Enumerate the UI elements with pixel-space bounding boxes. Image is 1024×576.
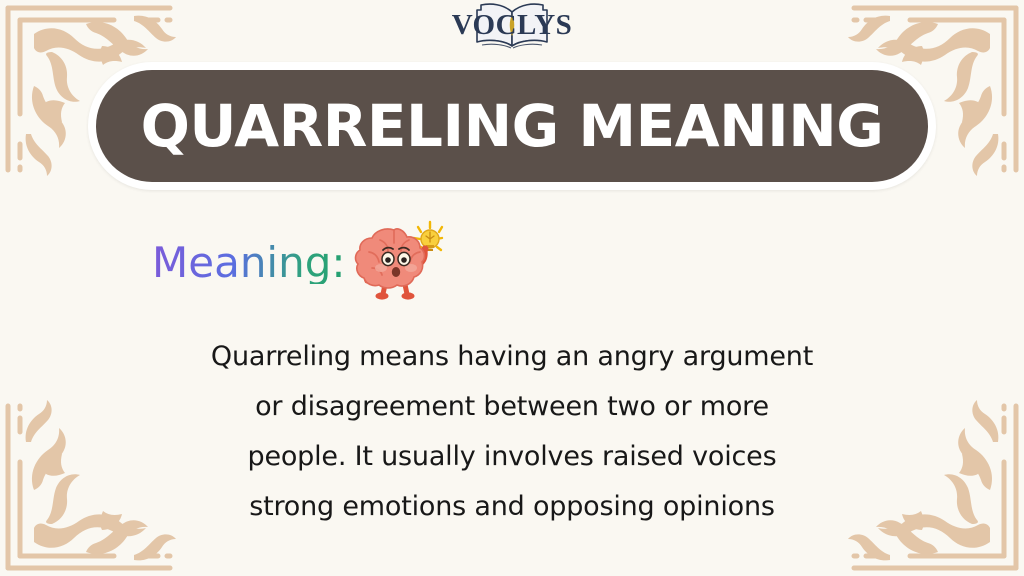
brain-with-lightbulb-icon (352, 218, 444, 304)
meaning-label: Meaning: (152, 242, 346, 284)
brand-logo: VOCLYS (0, 2, 1024, 52)
definition-text: Quarreling means having an angry argumen… (0, 332, 1024, 532)
definition-line: or disagreement between two or more (0, 382, 1024, 432)
definition-line: strong emotions and opposing opinions (0, 482, 1024, 532)
meaning-heading-row: Meaning: (152, 222, 444, 304)
definition-line: people. It usually involves raised voice… (0, 432, 1024, 482)
definition-line: Quarreling means having an angry argumen… (0, 332, 1024, 382)
slide-canvas: VOCLYS QUARRELING MEANING Meaning: (0, 0, 1024, 576)
title-banner: QUARRELING MEANING (88, 62, 936, 190)
title-banner-inner: QUARRELING MEANING (96, 70, 928, 182)
page-title: QUARRELING MEANING (141, 97, 884, 155)
brand-wordmark: VOCLYS (437, 11, 587, 40)
